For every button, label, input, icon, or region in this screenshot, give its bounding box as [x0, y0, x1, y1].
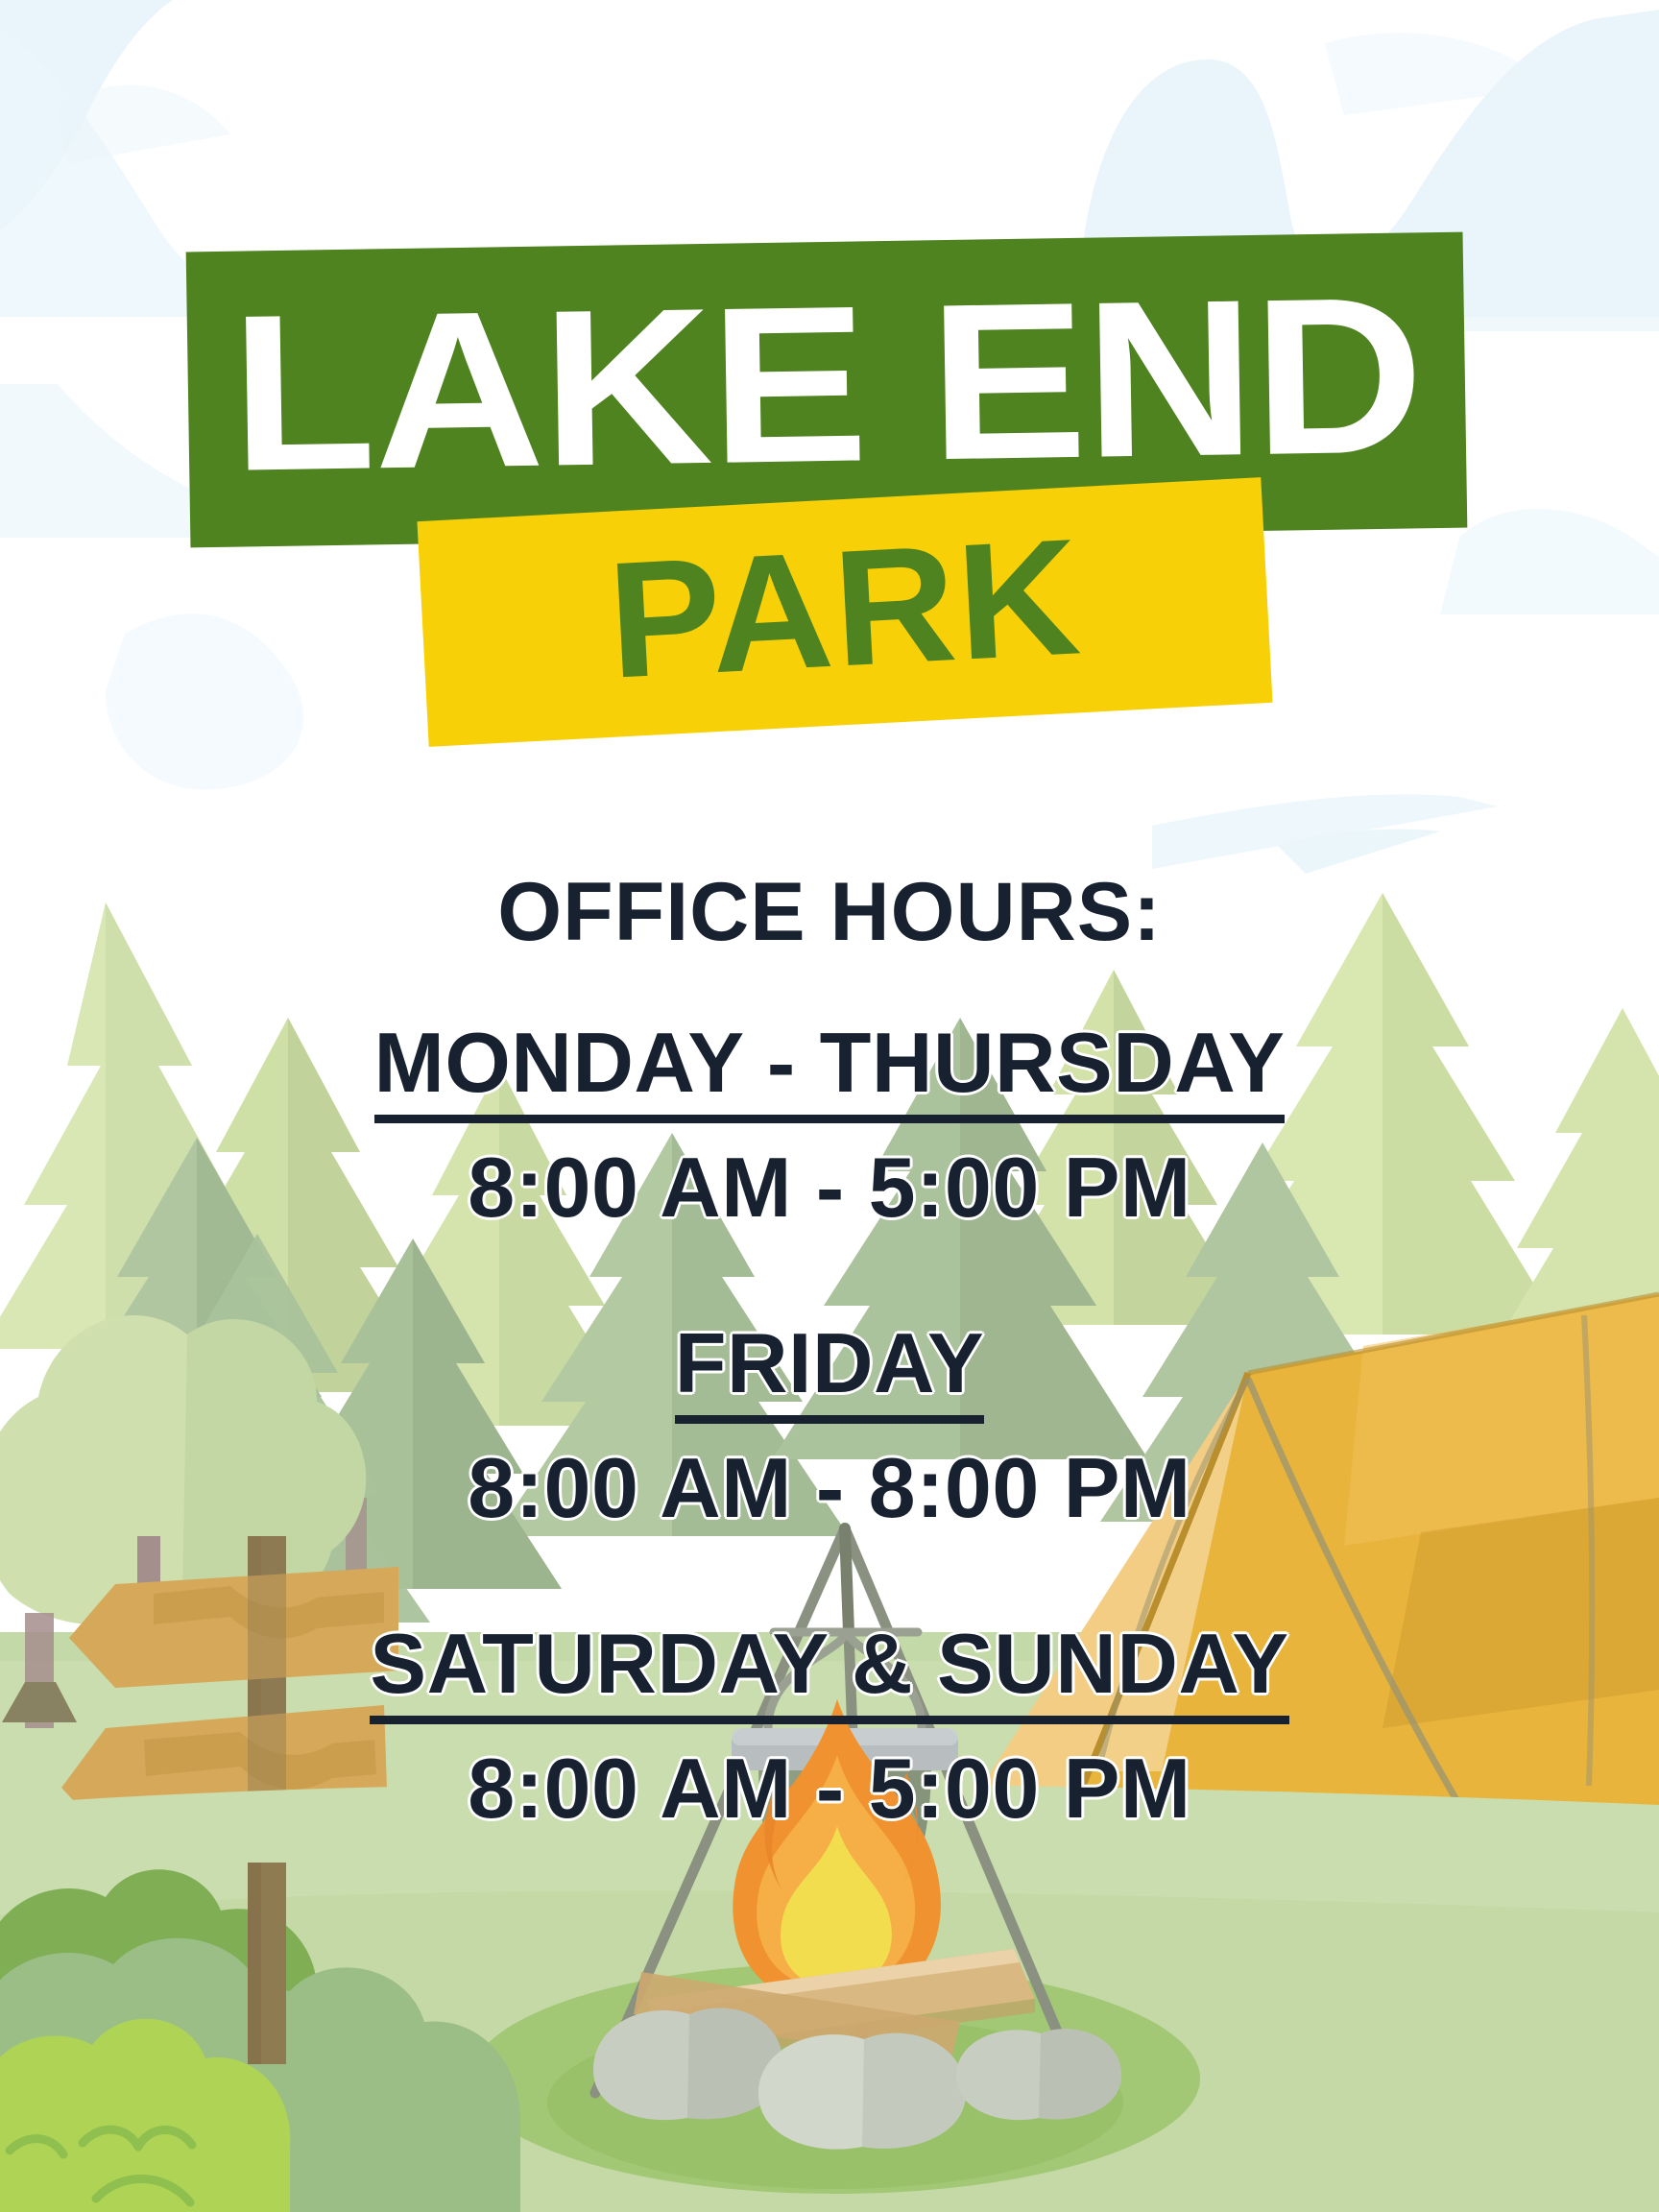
day-time-saturday-sunday: 8:00 AM - 5:00 PM [0, 1742, 1659, 1837]
day-time-friday: 8:00 AM - 8:00 PM [0, 1441, 1659, 1536]
day-label-friday: FRIDAY [675, 1319, 984, 1424]
office-hours-heading: OFFICE HOURS: [0, 869, 1659, 955]
hours-group-friday: FRIDAY 8:00 AM - 8:00 PM [0, 1319, 1659, 1535]
day-label-saturday-sunday: SATURDAY & SUNDAY [370, 1620, 1288, 1724]
office-hours-block: OFFICE HOURS: MONDAY - THURSDAY 8:00 AM … [0, 869, 1659, 1836]
poster-canvas: LAKE END PARK OFFICE HOURS: MONDAY - THU… [0, 0, 1659, 2212]
day-time-monday-thursday: 8:00 AM - 5:00 PM [0, 1141, 1659, 1236]
day-label-monday-thursday: MONDAY - THURSDAY [374, 1019, 1286, 1123]
park-title: LAKE END [229, 270, 1423, 510]
hours-group-weekday: MONDAY - THURSDAY 8:00 AM - 5:00 PM [0, 1019, 1659, 1235]
subtitle-banner: PARK [417, 477, 1272, 747]
hours-group-weekend: SATURDAY & SUNDAY 8:00 AM - 5:00 PM [0, 1620, 1659, 1836]
park-subtitle: PARK [604, 514, 1085, 711]
